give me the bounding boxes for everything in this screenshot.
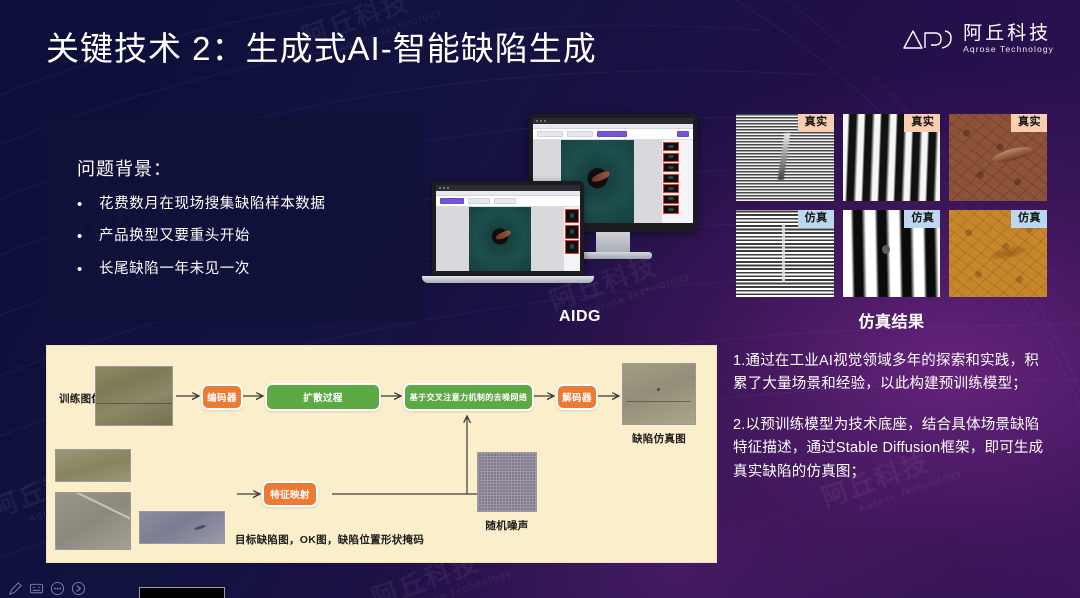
grid-row-sim: 仿真 仿真 仿真 bbox=[736, 210, 1047, 297]
bullet-text: 产品换型又要重头开始 bbox=[99, 228, 250, 245]
list-item: • 花费数月在现场搜集缺陷样本数据 bbox=[77, 196, 407, 213]
texture-cell: 仿真 bbox=[949, 210, 1047, 297]
status-badge: 真实 bbox=[1011, 114, 1047, 132]
toolbar-chip-active[interactable] bbox=[597, 131, 627, 137]
brand-logo: 阿丘科技 Aqrose Technology bbox=[902, 24, 1054, 54]
app-body bbox=[436, 207, 580, 271]
box-feature-map: 特征映射 bbox=[262, 481, 318, 507]
status-badge: 真实 bbox=[904, 114, 940, 132]
sample-thumb bbox=[55, 492, 131, 550]
texture-cell: 真实 bbox=[736, 114, 834, 201]
thumbnail-item[interactable] bbox=[565, 225, 579, 239]
toolbar-action-chip[interactable] bbox=[677, 131, 689, 137]
image-canvas[interactable] bbox=[436, 207, 564, 271]
label-output: 缺陷仿真图 bbox=[622, 431, 696, 446]
toolbar-chip[interactable] bbox=[537, 131, 563, 137]
logo-text-cn: 阿丘科技 bbox=[963, 24, 1054, 44]
logo-text-en: Aqrose Technology bbox=[963, 44, 1054, 54]
texture-cell: 仿真 bbox=[736, 210, 834, 297]
aidg-device-mockup bbox=[432, 112, 728, 338]
defect-image bbox=[469, 207, 530, 271]
mask-thumb bbox=[139, 587, 225, 598]
bullet-marker: • bbox=[77, 261, 99, 278]
texture-cell: 真实 bbox=[843, 114, 941, 201]
thumbnail-item[interactable] bbox=[663, 174, 679, 183]
status-badge: 仿真 bbox=[1011, 210, 1047, 228]
bullet-text: 长尾缺陷一年未见一次 bbox=[99, 261, 250, 278]
toolbar-chip[interactable] bbox=[567, 131, 593, 137]
thumbnail-item[interactable] bbox=[565, 240, 579, 254]
bullet-marker: • bbox=[77, 196, 99, 213]
noise-thumb bbox=[477, 452, 537, 512]
thumbnail-item[interactable] bbox=[565, 209, 579, 223]
simulation-caption: 仿真结果 bbox=[736, 308, 1047, 332]
right-properties-column bbox=[680, 140, 693, 223]
thumbnail-item[interactable] bbox=[663, 205, 679, 214]
bullet-list: • 花费数月在现场搜集缺陷样本数据 • 产品换型又要重头开始 • 长尾缺陷一年未… bbox=[77, 196, 407, 293]
status-badge: 真实 bbox=[798, 114, 834, 132]
toolbar-chip-active[interactable] bbox=[440, 198, 464, 204]
aidg-caption: AIDG bbox=[432, 308, 728, 326]
box-diffusion: 扩散过程 bbox=[265, 383, 381, 411]
thumbnail-item[interactable] bbox=[663, 142, 679, 151]
sample-thumb bbox=[139, 511, 225, 544]
app-toolbar bbox=[533, 129, 693, 140]
laptop-lid bbox=[432, 181, 584, 276]
monitor-stand-base bbox=[574, 252, 652, 259]
thumbnail-strip[interactable] bbox=[662, 140, 680, 223]
thumbnail-strip[interactable] bbox=[564, 207, 580, 271]
pipeline-diagram: 训练图像 编码器 扩散过程 基于交叉注意力机制的去噪网络 解码器 缺陷仿真图 特… bbox=[46, 345, 717, 563]
problem-background-panel: 问题背景： • 花费数月在现场搜集缺陷样本数据 • 产品换型又要重头开始 • 长… bbox=[46, 118, 425, 322]
box-denoise-network: 基于交叉注意力机制的去噪网络 bbox=[403, 383, 534, 411]
training-image-thumb bbox=[95, 366, 173, 426]
status-badge: 仿真 bbox=[904, 210, 940, 228]
thumbnail-item[interactable] bbox=[663, 163, 679, 172]
box-encoder: 编码器 bbox=[201, 384, 243, 410]
comment-icon[interactable] bbox=[50, 581, 65, 596]
toolbar-chip[interactable] bbox=[494, 198, 516, 204]
texture-cell: 仿真 bbox=[843, 210, 941, 297]
sample-thumb bbox=[55, 449, 131, 482]
simulation-result-grid: 真实 真实 真实 仿真 仿真 仿真 bbox=[736, 114, 1047, 306]
status-badge: 仿真 bbox=[798, 210, 834, 228]
list-item: • 产品换型又要重头开始 bbox=[77, 228, 407, 245]
slide-root: 阿丘科技Aqrose Technology 阿丘科技Aqrose Technol… bbox=[0, 0, 1080, 598]
right-text-block: 1.通过在工业AI视觉领域多年的探索和实践，积累了大量场景和经验，以此构建预训练… bbox=[733, 350, 1053, 501]
list-item: • 长尾缺陷一年未见一次 bbox=[77, 261, 407, 278]
bullet-marker: • bbox=[77, 228, 99, 245]
laptop-base bbox=[422, 276, 594, 283]
texture-cell: 真实 bbox=[949, 114, 1047, 201]
bullet-text: 花费数月在现场搜集缺陷样本数据 bbox=[99, 196, 326, 213]
laptop-screen bbox=[436, 185, 580, 271]
paragraph-2: 2.以预训练模型为技术底座，结合具体场景缺陷特征描述，通过Stable Diff… bbox=[733, 414, 1053, 484]
thumbnail-item[interactable] bbox=[663, 153, 679, 162]
caption-inputs: 目标缺陷图，OK图，缺陷位置形状掩码 bbox=[235, 532, 424, 547]
bottom-toolbar[interactable] bbox=[8, 581, 86, 596]
page-title: 关键技术 2：生成式AI-智能缺陷生成 bbox=[46, 22, 597, 70]
thumbnail-item[interactable] bbox=[663, 184, 679, 193]
frame-icon[interactable] bbox=[29, 581, 44, 596]
box-decoder: 解码器 bbox=[556, 384, 598, 410]
thumbnail-item[interactable] bbox=[663, 195, 679, 204]
grid-row-real: 真实 真实 真实 bbox=[736, 114, 1047, 201]
app-toolbar bbox=[436, 196, 580, 207]
output-image-thumb bbox=[622, 363, 696, 425]
panel-heading: 问题背景： bbox=[77, 155, 172, 181]
label-noise: 随机噪声 bbox=[477, 518, 537, 533]
toolbar-chip[interactable] bbox=[468, 198, 490, 204]
monitor-stand-neck bbox=[596, 232, 630, 252]
paragraph-1: 1.通过在工业AI视觉领域多年的探索和实践，积累了大量场景和经验，以此构建预训练… bbox=[733, 350, 1053, 397]
next-icon[interactable] bbox=[71, 581, 86, 596]
logo-mark-icon bbox=[902, 26, 954, 52]
pen-icon[interactable] bbox=[8, 581, 23, 596]
laptop-mockup bbox=[432, 181, 584, 283]
